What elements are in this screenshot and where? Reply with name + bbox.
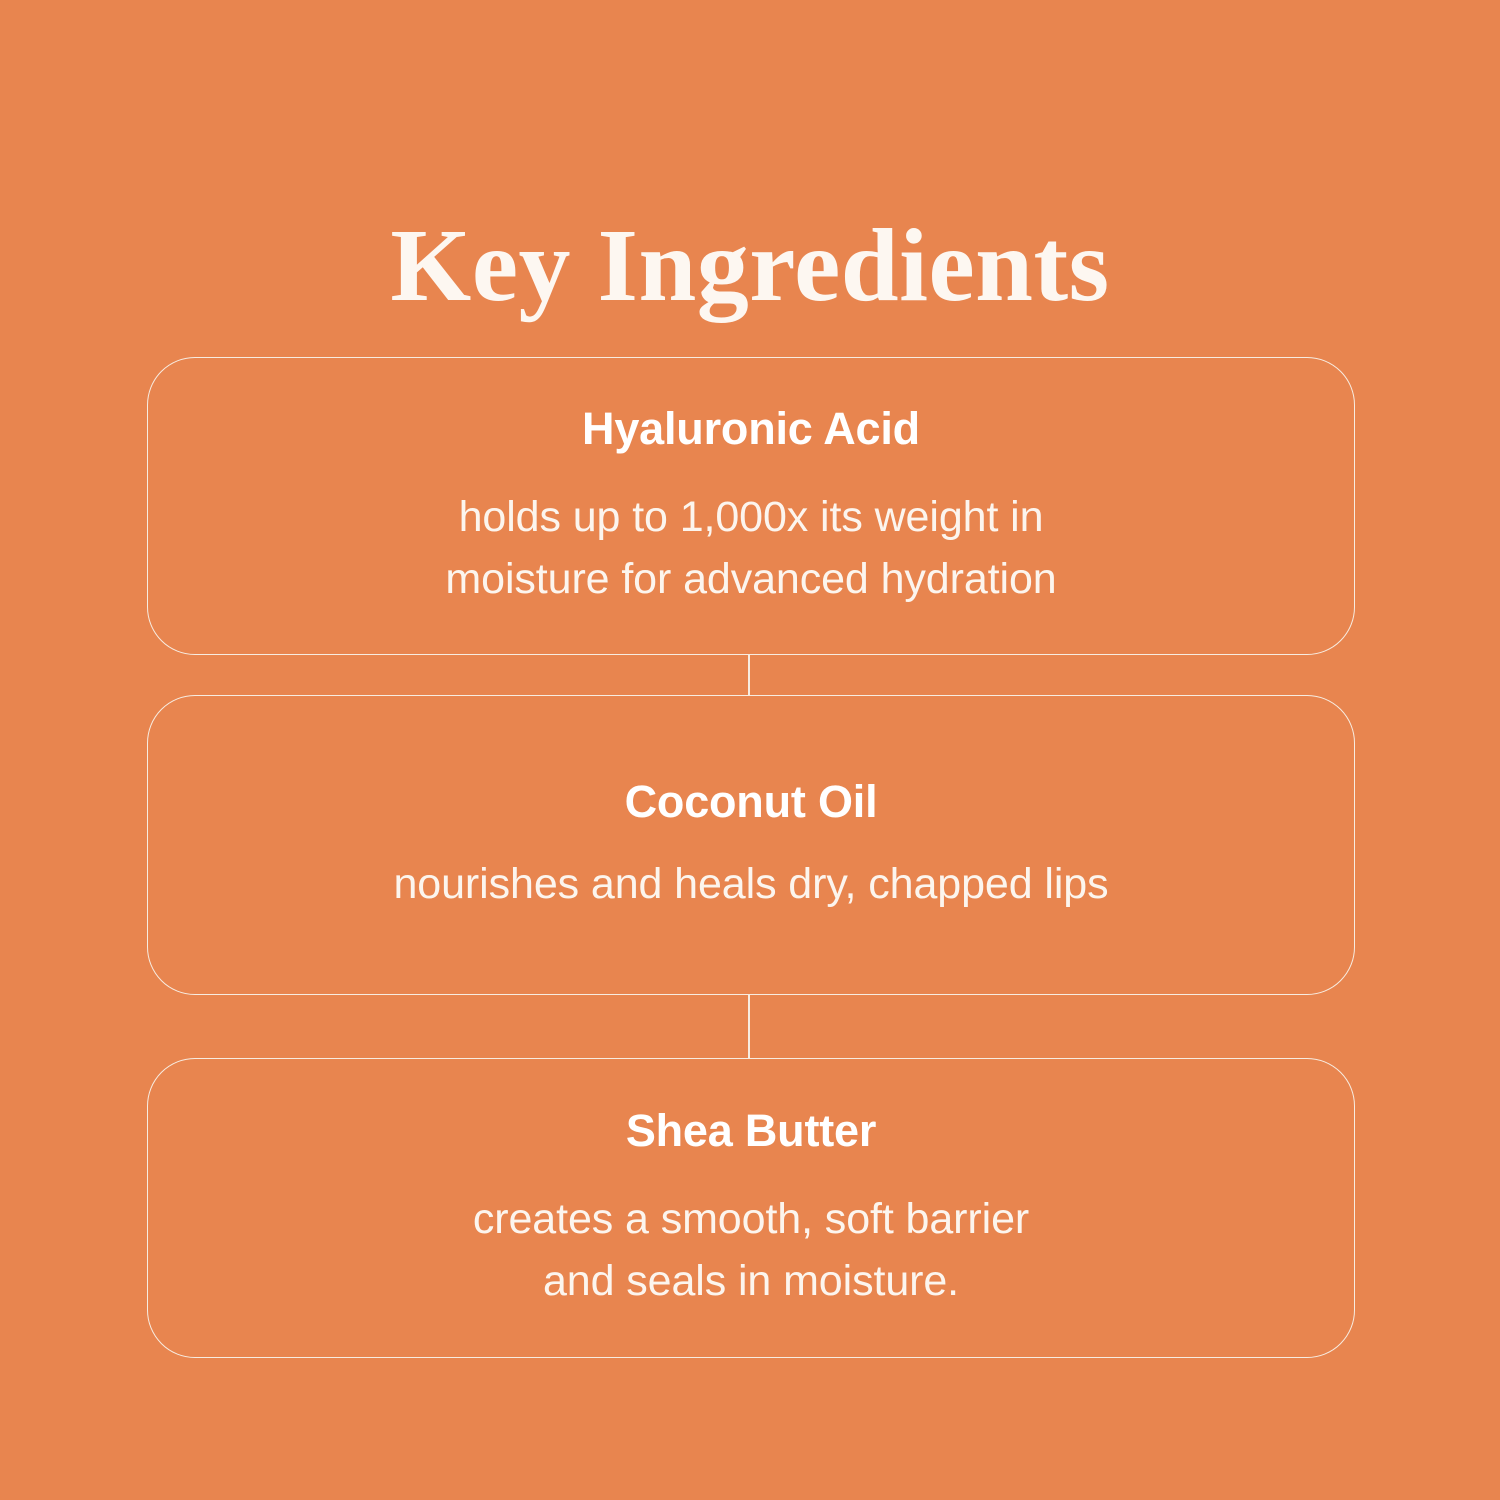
description-line: nourishes and heals dry, chapped lips — [393, 860, 1108, 908]
ingredient-description: creates a smooth, soft barrier and seals… — [473, 1188, 1029, 1312]
connector-line-card2-card3 — [748, 995, 750, 1059]
connector-line-card1-card2 — [748, 655, 750, 696]
key-ingredients-poster: Key Ingredients Hyaluronic Acid holds up… — [0, 0, 1500, 1500]
ingredient-card-coconut-oil[interactable]: Coconut Oil nourishes and heals dry, cha… — [147, 695, 1355, 995]
ingredient-card-stack: Hyaluronic Acid holds up to 1,000x its w… — [147, 357, 1355, 1358]
ingredient-description: holds up to 1,000x its weight in moistur… — [445, 486, 1056, 610]
page-title: Key Ingredients — [0, 210, 1500, 322]
description-line: holds up to 1,000x its weight in — [459, 493, 1044, 541]
ingredient-name: Coconut Oil — [625, 775, 878, 829]
ingredient-card-shea-butter[interactable]: Shea Butter creates a smooth, soft barri… — [147, 1058, 1355, 1358]
ingredient-description: nourishes and heals dry, chapped lips — [393, 853, 1108, 915]
description-line: moisture for advanced hydration — [445, 555, 1056, 603]
ingredient-name: Shea Butter — [626, 1104, 876, 1158]
description-line: and seals in moisture. — [543, 1257, 959, 1305]
ingredient-name: Hyaluronic Acid — [582, 402, 920, 456]
description-line: creates a smooth, soft barrier — [473, 1195, 1029, 1243]
ingredient-card-hyaluronic-acid[interactable]: Hyaluronic Acid holds up to 1,000x its w… — [147, 357, 1355, 655]
